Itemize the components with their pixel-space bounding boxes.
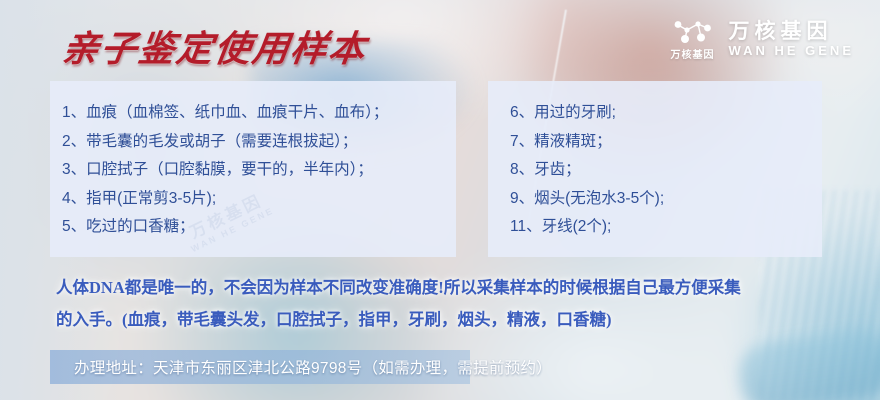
list-item: 6、用过的牙刷; — [510, 99, 822, 128]
sample-list-panel-right: 万核基因 WAN HE GENE 万核基因 WAN HE GENE 6、用过的牙… — [488, 81, 822, 257]
list-item: 9、烟头(无泡水3-5个); — [510, 185, 822, 214]
list-item: 4、指甲(正常剪3-5片); — [62, 185, 456, 214]
molecule-network-icon — [671, 18, 715, 44]
list-item: 1、血痕（血棉签、纸巾血、血痕干片、血布）； — [62, 99, 456, 128]
list-item: 3、口腔拭子（口腔黏膜，要干的，半年内）； — [62, 156, 456, 185]
list-item: 11、牙线(2个); — [510, 213, 822, 242]
sample-list-left: 1、血痕（血棉签、纸巾血、血痕干片、血布）； 2、带毛囊的毛发或胡子（需要连根拔… — [50, 81, 456, 242]
sample-list-panel-left: 万核基因 WAN HE GENE 万核基因 WAN HE GENE 1、血痕（血… — [50, 81, 456, 257]
list-item: 8、牙齿； — [510, 156, 822, 185]
brand-name-cn: 万核基因 — [729, 20, 854, 44]
note-line-1: 人体DNA都是唯一的，不会因为样本不同改变准确度!所以采集样本的时候根据自己最方… — [56, 272, 846, 304]
sample-list-right: 6、用过的牙刷; 7、精液精斑； 8、牙齿； 9、烟头(无泡水3-5个); 11… — [488, 81, 822, 242]
list-item: 7、精液精斑； — [510, 128, 822, 157]
watermark: 万核基因 WAN HE GENE — [139, 249, 224, 257]
page-title: 亲子鉴定使用样本 — [59, 20, 370, 72]
brand-logo: 万核基因 万核基因 WAN HE GENE — [671, 18, 854, 61]
watermark-cn: 万核基因 — [144, 251, 215, 257]
list-item: 2、带毛囊的毛发或胡子（需要连根拔起）； — [62, 128, 456, 157]
poster-root: 亲子鉴定使用样本 万核 — [0, 0, 880, 400]
brand-name-block: 万核基因 WAN HE GENE — [729, 20, 854, 58]
brand-mark: 万核基因 — [671, 18, 715, 61]
list-item: 5、吃过的口香糖； — [62, 213, 456, 242]
brand-name-en: WAN HE GENE — [729, 44, 854, 59]
address-bar: 办理地址：天津市东丽区津北公路9798号（如需办理，需提前预约） — [50, 350, 470, 384]
brand-mark-label: 万核基因 — [671, 46, 715, 61]
note-line-2: 的入手。(血痕，带毛囊头发，口腔拭子，指甲，牙刷，烟头，精液，口香糖) — [56, 304, 846, 336]
address-text: 办理地址：天津市东丽区津北公路9798号（如需办理，需提前预约） — [50, 356, 552, 378]
note-paragraph: 人体DNA都是唯一的，不会因为样本不同改变准确度!所以采集样本的时候根据自己最方… — [56, 272, 846, 336]
